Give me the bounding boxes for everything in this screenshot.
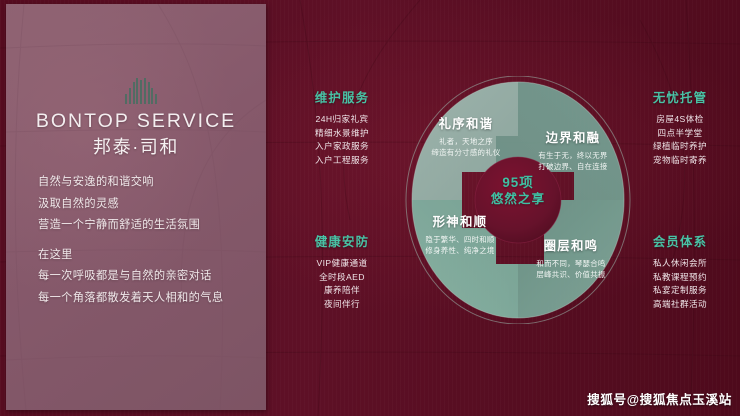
service-item: 入户家政服务 (290, 140, 394, 154)
service-item: 24H归家礼宾 (290, 113, 394, 127)
service-group-title: 维护服务 (290, 88, 394, 106)
service-item: 高端社群活动 (628, 298, 732, 312)
service-item: 私宴定制服务 (628, 284, 732, 298)
service-item: 精细水景维护 (290, 127, 394, 141)
service-group-title: 会员体系 (628, 232, 732, 250)
brand-logo-icon (125, 78, 157, 104)
service-item: 入户工程服务 (290, 154, 394, 168)
service-item: 房屋4S体检 (628, 113, 732, 127)
blurb-line: 每一次呼吸都是与自然的亲密对话 (38, 266, 263, 288)
service-philosophy-diagram: 礼序和谐 礼者，天地之序 缔造有分寸感的礼仪 边界和融 有生于无，终以无界 打破… (404, 76, 632, 324)
slide-canvas: BONTOP SERVICE 邦泰·司和 自然与安逸的和谐交响 汲取自然的灵感 … (0, 0, 740, 416)
service-item: 私教课程预约 (628, 271, 732, 285)
blurb-line: 自然与安逸的和谐交响 (38, 172, 263, 194)
blurb-line: 每一个角落都散发着天人相和的气息 (38, 288, 263, 310)
service-group-maintenance: 维护服务 24H归家礼宾 精细水景维护 入户家政服务 入户工程服务 (290, 88, 394, 167)
brand-name-chinese: 邦泰·司和 (0, 133, 272, 159)
service-item: 绿植临时养护 (628, 140, 732, 154)
watermark-text: 搜狐号@搜狐焦点玉溪站 (587, 389, 732, 408)
service-item: 康养陪伴 (290, 284, 394, 298)
service-item: 夜间伴行 (290, 298, 394, 312)
diagram-svg (404, 76, 632, 324)
service-item: 私人休闲会所 (628, 257, 732, 271)
brand-blurb: 自然与安逸的和谐交响 汲取自然的灵感 营造一个宁静而舒适的生活氛围 在这里 每一… (38, 172, 263, 310)
service-group-custody: 无忧托管 房屋4S体检 四点半学堂 绿植临时养护 宠物临时寄养 (628, 88, 732, 167)
brand-name-english: BONTOP SERVICE (0, 110, 272, 133)
service-group-health: 健康安防 VIP健康通道 全时段AED 康养陪伴 夜间伴行 (290, 232, 394, 311)
blurb-spacer (38, 237, 263, 245)
service-group-title: 健康安防 (290, 232, 394, 250)
blurb-line: 营造一个宁静而舒适的生活氛围 (38, 215, 263, 237)
service-item: 全时段AED (290, 271, 394, 285)
service-group-membership: 会员体系 私人休闲会所 私教课程预约 私宴定制服务 高端社群活动 (628, 232, 732, 311)
service-item: VIP健康通道 (290, 257, 394, 271)
blurb-line: 在这里 (38, 245, 263, 267)
service-item: 宠物临时寄养 (628, 154, 732, 168)
service-group-title: 无忧托管 (628, 88, 732, 106)
service-item: 四点半学堂 (628, 127, 732, 141)
blurb-line: 汲取自然的灵感 (38, 194, 263, 216)
